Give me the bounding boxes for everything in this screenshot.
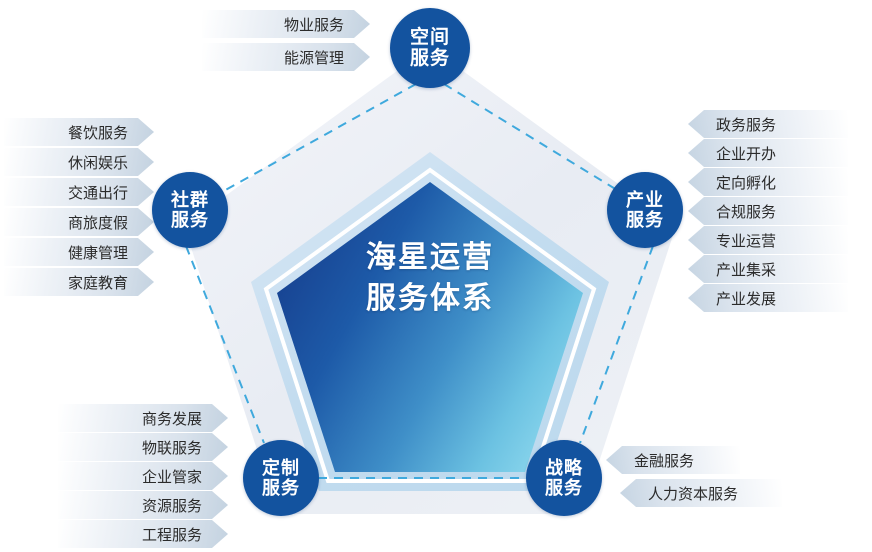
pill-label: 物联服务 <box>128 437 228 458</box>
node-community[interactable]: 社群 服务 <box>152 172 228 248</box>
node-community-line2: 服务 <box>171 210 209 230</box>
node-custom-line1: 定制 <box>262 458 300 478</box>
pill-item[interactable]: 企业开办 <box>688 139 848 167</box>
pill-label: 金融服务 <box>606 450 708 471</box>
node-custom-line2: 服务 <box>262 478 300 498</box>
pill-item[interactable]: 商旅度假 <box>4 208 154 236</box>
node-industry[interactable]: 产业 服务 <box>607 172 683 248</box>
pill-label: 商务发展 <box>128 408 228 429</box>
pill-label: 餐饮服务 <box>54 122 154 143</box>
pill-label: 能源管理 <box>270 47 370 68</box>
node-strategy-line1: 战略 <box>545 458 583 478</box>
pill-label: 资源服务 <box>128 495 228 516</box>
pill-label: 合规服务 <box>688 201 790 222</box>
pill-label: 人力资本服务 <box>620 483 752 504</box>
pill-item[interactable]: 金融服务 <box>606 446 740 474</box>
pill-item[interactable]: 产业集采 <box>688 255 848 283</box>
node-strategy-line2: 服务 <box>545 478 583 498</box>
pill-label: 商旅度假 <box>54 212 154 233</box>
pill-label: 家庭教育 <box>54 272 154 293</box>
pill-item[interactable]: 工程服务 <box>58 520 228 548</box>
node-industry-line1: 产业 <box>626 190 664 210</box>
diagram-canvas: 空间 服务 社群 服务 产业 服务 定制 服务 战略 服务 海星运营 服务体系 … <box>0 0 872 552</box>
node-space-line2: 服务 <box>410 48 450 69</box>
pill-item[interactable]: 餐饮服务 <box>4 118 154 146</box>
center-title-line1: 海星运营 <box>300 238 560 279</box>
pill-item[interactable]: 家庭教育 <box>4 268 154 296</box>
pill-item[interactable]: 物联服务 <box>58 433 228 461</box>
center-title-line2: 服务体系 <box>300 279 560 320</box>
pill-item[interactable]: 企业管家 <box>58 462 228 490</box>
node-custom[interactable]: 定制 服务 <box>243 440 319 516</box>
pill-item[interactable]: 健康管理 <box>4 238 154 266</box>
node-community-line1: 社群 <box>171 190 209 210</box>
pill-label: 休闲娱乐 <box>54 152 154 173</box>
pill-item[interactable]: 政务服务 <box>688 110 848 138</box>
pill-label: 健康管理 <box>54 242 154 263</box>
node-strategy[interactable]: 战略 服务 <box>526 440 602 516</box>
node-space[interactable]: 空间 服务 <box>390 8 470 88</box>
pill-label: 专业运营 <box>688 230 790 251</box>
pill-label: 定向孵化 <box>688 172 790 193</box>
node-space-line1: 空间 <box>410 27 450 48</box>
pill-label: 工程服务 <box>128 524 228 545</box>
pill-item[interactable]: 能源管理 <box>202 43 370 71</box>
pill-label: 企业管家 <box>128 466 228 487</box>
pill-item[interactable]: 交通出行 <box>4 178 154 206</box>
node-industry-line2: 服务 <box>626 210 664 230</box>
pill-label: 企业开办 <box>688 143 790 164</box>
pill-item[interactable]: 资源服务 <box>58 491 228 519</box>
pill-item[interactable]: 定向孵化 <box>688 168 848 196</box>
center-title: 海星运营 服务体系 <box>300 238 560 319</box>
pill-item[interactable]: 人力资本服务 <box>620 479 782 507</box>
pill-label: 产业发展 <box>688 288 790 309</box>
pill-item[interactable]: 物业服务 <box>202 10 370 38</box>
pill-item[interactable]: 商务发展 <box>58 404 228 432</box>
pill-label: 交通出行 <box>54 182 154 203</box>
pill-item[interactable]: 合规服务 <box>688 197 848 225</box>
pill-item[interactable]: 产业发展 <box>688 284 848 312</box>
pill-label: 产业集采 <box>688 259 790 280</box>
pill-item[interactable]: 专业运营 <box>688 226 848 254</box>
pill-label: 政务服务 <box>688 114 790 135</box>
pill-label: 物业服务 <box>270 14 370 35</box>
pill-item[interactable]: 休闲娱乐 <box>4 148 154 176</box>
